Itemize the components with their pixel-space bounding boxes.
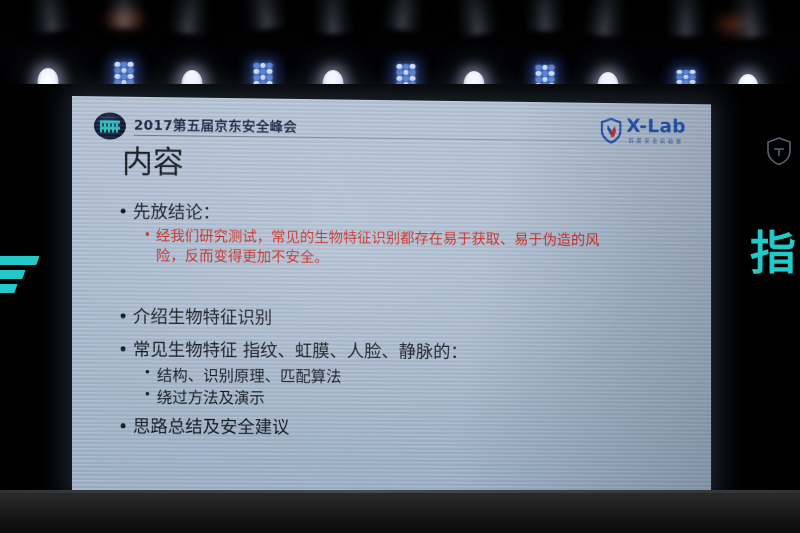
- slide-content: 2017第五届京东安全峰会 X-Lab 百度安全实验室: [72, 96, 711, 495]
- outline-item-3-label: 常见生物特征 指纹、虹膜、人脸、静脉的：: [133, 340, 468, 366]
- outline-item-1: • 先放结论：: [118, 202, 692, 231]
- outline-item-2-label: 介绍生物特征识别: [133, 307, 272, 331]
- outline-item-3-sub-2-label: 绕过方法及演示: [157, 387, 265, 410]
- lighting-truss: [0, 0, 800, 96]
- x-lab-shield-icon: [601, 118, 622, 144]
- outline-spacer: [118, 267, 692, 312]
- bullet-icon: •: [118, 202, 133, 225]
- summit-badge-logo: [94, 112, 126, 139]
- x-lab-subtitle: 百度安全实验室: [626, 137, 685, 146]
- conclusion-line-1: 经我们研究测试，常见的生物特征识别都存在易于获取、易于伪造的风: [156, 229, 600, 249]
- bullet-icon: •: [144, 365, 157, 387]
- outline-item-2: • 介绍生物特征识别: [118, 307, 692, 335]
- wall-left-panel: [0, 84, 74, 490]
- conclusion-text: 经我们研究测试，常见的生物特征识别都存在易于获取、易于伪造的风 险，反而变得更加…: [156, 227, 600, 271]
- cyan-angled-bars-graphic: [0, 256, 42, 298]
- slide-header: 2017第五届京东安全峰会 X-Lab 百度安全实验室: [94, 110, 692, 147]
- led-wall: 指 2017第五届京东安全峰会 X-Lab: [0, 84, 800, 490]
- outline-item-3-sub-1-label: 结构、识别原理、匹配算法: [157, 365, 342, 388]
- outline-item-1-sub-1: • 经我们研究测试，常见的生物特征识别都存在易于获取、易于伪造的风 险，反而变得…: [144, 227, 692, 272]
- shield-outline-icon: [766, 136, 792, 166]
- bullet-icon: •: [118, 307, 133, 330]
- x-lab-wordmark: X-Lab: [626, 117, 685, 137]
- outline-item-3-sub-2: • 绕过方法及演示: [144, 387, 692, 412]
- stage-scene: 指 2017第五届京东安全峰会 X-Lab: [0, 0, 800, 533]
- x-lab-logo: X-Lab 百度安全实验室: [601, 117, 686, 146]
- summit-title: 2017第五届京东安全峰会: [134, 114, 297, 136]
- outline-list: • 先放结论： • 经我们研究测试，常见的生物特征识别都存在易于获取、易于伪造的…: [118, 202, 692, 443]
- outline-item-1-label: 先放结论：: [133, 202, 220, 226]
- outline-item-3: • 常见生物特征 指纹、虹膜、人脸、静脉的：: [118, 340, 692, 367]
- bullet-icon: •: [144, 227, 156, 267]
- bullet-icon: •: [144, 387, 157, 409]
- page-title: 内容: [122, 146, 692, 187]
- wall-right-glyph: 指: [750, 230, 796, 276]
- wall-right-panel: 指: [718, 84, 800, 490]
- bullet-icon: •: [118, 340, 133, 363]
- stage-floor: [0, 490, 800, 533]
- outline-item-4: • 思路总结及安全建议: [118, 417, 692, 443]
- projection-screen: 2017第五届京东安全峰会 X-Lab 百度安全实验室: [72, 96, 711, 495]
- outline-item-4-label: 思路总结及安全建议: [133, 417, 290, 441]
- bullet-icon: •: [118, 417, 133, 440]
- conclusion-line-2: 险，反而变得更加不安全。: [156, 249, 329, 267]
